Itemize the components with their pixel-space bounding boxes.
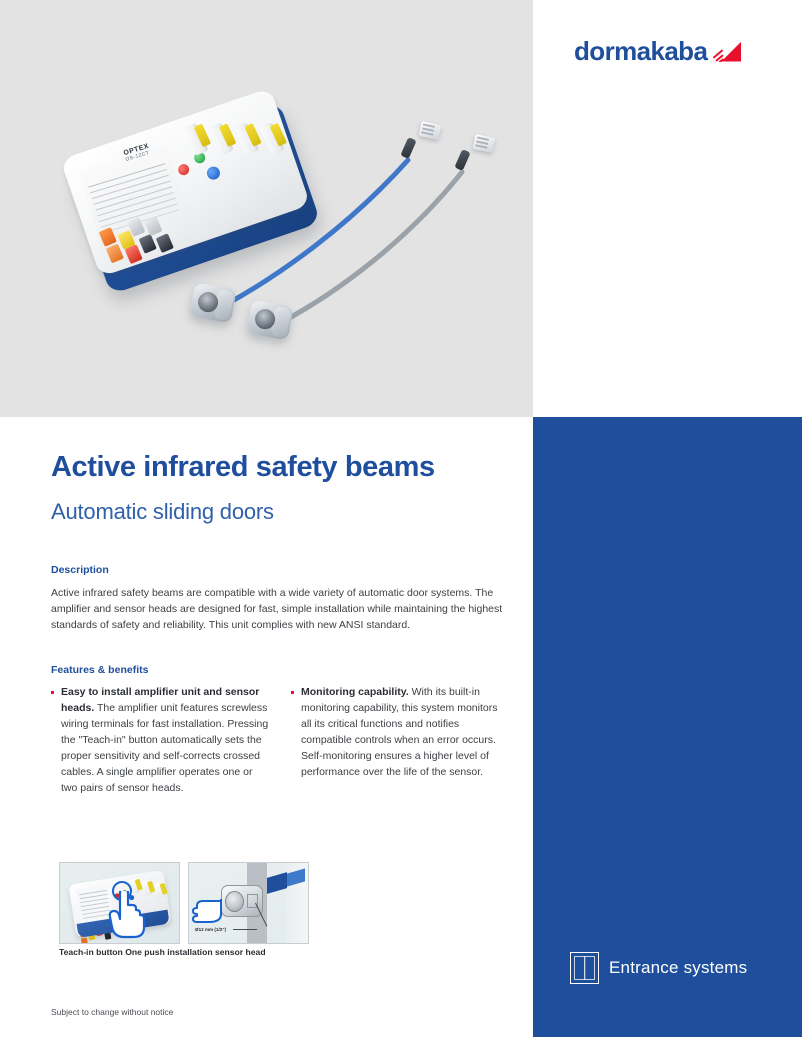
sensor-head-illustration (221, 885, 263, 917)
illustration-thumbnails: Ø12 mm (1/2") (59, 862, 309, 944)
entrance-systems-label: Entrance systems (609, 958, 747, 978)
pointing-hand-icon (191, 893, 225, 929)
feature-text: Easy to install amplifier unit and senso… (61, 685, 269, 797)
teach-in-button-illustration (59, 862, 180, 944)
dimension-leader-line (233, 929, 257, 930)
dormakaba-logo: dormakaba (574, 36, 741, 67)
description-body: Active infrared safety beams are compati… (51, 585, 513, 633)
feature-body: The amplifier unit features screwless wi… (61, 702, 268, 794)
sensor-cable-grey (0, 0, 533, 417)
feature-item: Monitoring capability. With its built-in… (291, 685, 509, 781)
door-panel-illustration (267, 872, 287, 894)
thumbnails-caption: Teach-in button One push installation se… (59, 947, 266, 957)
bullet-dot-icon (51, 691, 54, 694)
document-page: OPTEX OS-12CT (0, 0, 802, 1037)
dormakaba-flag-icon (711, 42, 741, 62)
feature-lead: Monitoring capability. (301, 686, 409, 698)
entrance-systems-logo: Entrance systems (570, 952, 747, 984)
entrance-door-icon (570, 952, 599, 984)
page-subtitle: Automatic sliding doors (51, 500, 513, 524)
dormakaba-wordmark: dormakaba (574, 36, 707, 67)
content-area: Active infrared safety beams Automatic s… (51, 452, 513, 797)
features-heading: Features & benefits (51, 664, 513, 676)
description-heading: Description (51, 564, 513, 576)
blue-side-panel (533, 417, 802, 1037)
hero-product-image: OPTEX OS-12CT (0, 0, 533, 417)
pointing-hand-icon (106, 891, 150, 941)
bullet-dot-icon (291, 691, 294, 694)
page-title: Active infrared safety beams (51, 452, 513, 484)
footer-disclaimer: Subject to change without notice (51, 1007, 173, 1017)
sensor-head-grey (246, 300, 293, 341)
features-columns: Easy to install amplifier unit and senso… (51, 685, 513, 797)
dimension-label: Ø12 mm (1/2") (195, 927, 226, 932)
feature-body: With its built-in monitoring capability,… (301, 686, 497, 778)
one-push-installation-sensor-head-illustration: Ø12 mm (1/2") (188, 862, 309, 944)
feature-column-right: Monitoring capability. With its built-in… (291, 685, 509, 797)
product-photo: OPTEX OS-12CT (0, 0, 533, 417)
feature-text: Monitoring capability. With its built-in… (301, 685, 509, 781)
feature-column-left: Easy to install amplifier unit and senso… (51, 685, 269, 797)
feature-item: Easy to install amplifier unit and senso… (51, 685, 269, 797)
